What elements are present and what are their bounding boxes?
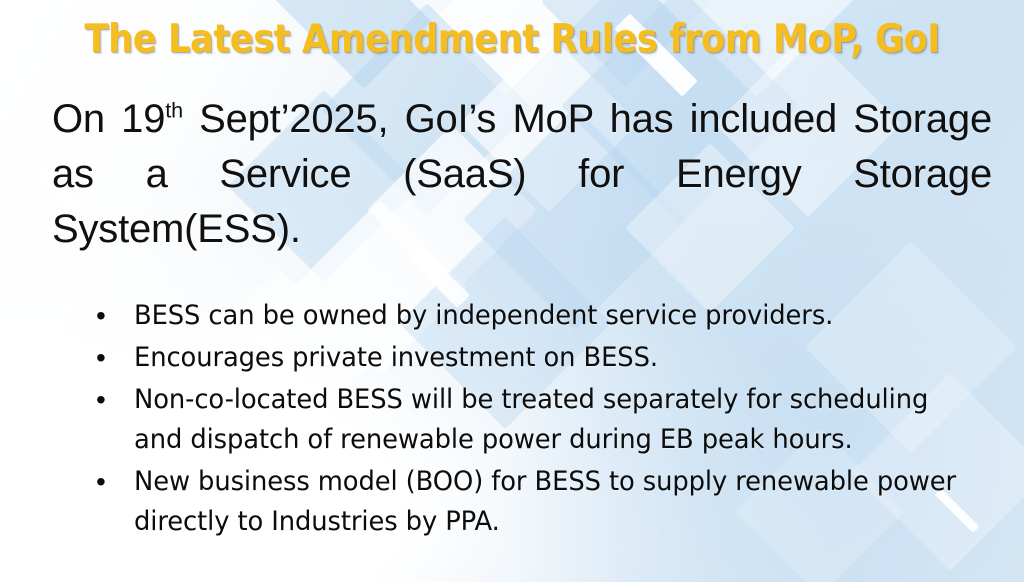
slide-title: The Latest Amendment Rules from MoP, GoI (84, 20, 939, 59)
bullet-marker-icon: • (92, 338, 134, 378)
bullet-marker-icon: • (92, 296, 134, 336)
bullet-marker-icon: • (92, 380, 134, 420)
ordinal-superscript: th (165, 98, 183, 123)
bullet-marker-icon: • (92, 462, 134, 502)
list-item-label: New business model (BOO) for BESS to sup… (134, 462, 982, 542)
list-item: • New business model (BOO) for BESS to s… (92, 462, 1022, 542)
lead-text-before-superscript: On 19 (52, 97, 165, 141)
presentation-slide: The Latest Amendment Rules from MoP, GoI… (0, 0, 1024, 582)
list-item: • Encourages private investment on BESS. (92, 338, 1022, 378)
bullet-list: • BESS can be owned by independent servi… (92, 296, 1022, 544)
lead-paragraph: On 19th Sept’2025, GoI’s MoP has include… (52, 92, 992, 257)
lead-text-after-superscript: Sept’2025, GoI’s MoP has included Storag… (52, 97, 992, 251)
slide-title-bar: The Latest Amendment Rules from MoP, GoI (0, 8, 1024, 70)
list-item-label: Encourages private investment on BESS. (134, 338, 982, 378)
list-item: • Non-co-located BESS will be treated se… (92, 380, 1022, 460)
list-item-label: BESS can be owned by independent service… (134, 296, 982, 336)
list-item: • BESS can be owned by independent servi… (92, 296, 1022, 336)
list-item-label: Non-co-located BESS will be treated sepa… (134, 380, 982, 460)
